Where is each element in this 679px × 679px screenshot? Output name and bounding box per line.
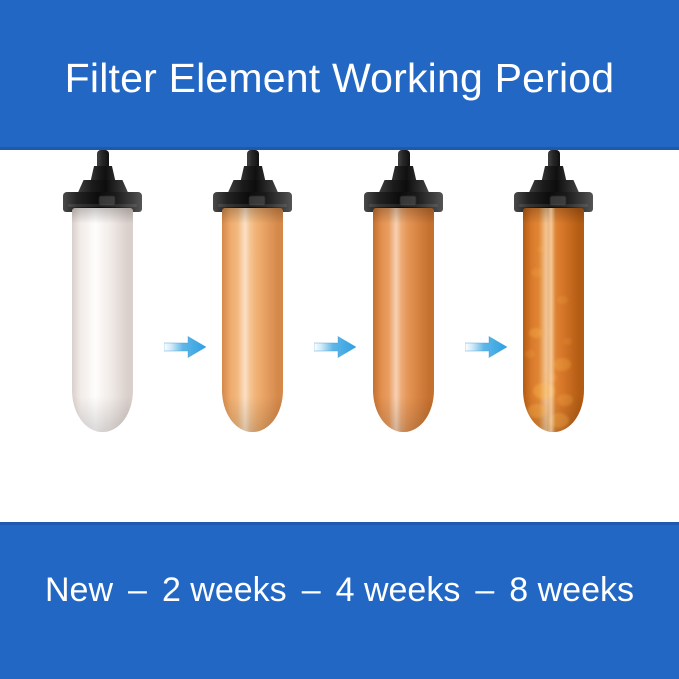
filter-body-1 xyxy=(72,208,133,432)
cap-embossed-mark xyxy=(99,196,115,205)
legend-separator: – xyxy=(115,573,160,607)
legend-stage-1: New xyxy=(43,573,115,607)
filter-cartridge-4 xyxy=(507,150,599,450)
filter-cap-2 xyxy=(206,150,298,212)
infographic-page: Filter Element Working Period New–2 week… xyxy=(0,0,679,679)
header-band: Filter Element Working Period xyxy=(0,0,679,150)
filter-progression-stage xyxy=(0,150,679,522)
cap-embossed-mark xyxy=(400,196,416,205)
legend-stage-4: 8 weeks xyxy=(507,573,636,607)
body-streak xyxy=(523,208,584,432)
arrow-right-icon-3 xyxy=(465,336,507,358)
filter-cartridge-2 xyxy=(206,150,298,450)
stage-legend: New–2 weeks–4 weeks–8 weeks xyxy=(43,573,636,607)
body-top-shadow xyxy=(373,208,434,432)
filter-cartridge-3 xyxy=(357,150,449,450)
filter-cartridge-1 xyxy=(56,150,148,450)
filter-cap-1 xyxy=(56,150,148,212)
legend-stage-3: 4 weeks xyxy=(334,573,463,607)
filter-body-2 xyxy=(222,208,283,432)
page-title: Filter Element Working Period xyxy=(65,58,615,99)
cap-embossed-mark xyxy=(550,196,566,205)
filter-body-4 xyxy=(523,208,584,432)
legend-separator: – xyxy=(289,573,334,607)
body-top-shadow xyxy=(222,208,283,432)
filter-cap-4 xyxy=(507,150,599,212)
filter-body-3 xyxy=(373,208,434,432)
cap-embossed-mark xyxy=(249,196,265,205)
body-top-shadow xyxy=(72,208,133,432)
footer-band: New–2 weeks–4 weeks–8 weeks xyxy=(0,522,679,679)
filter-cap-3 xyxy=(357,150,449,212)
legend-stage-2: 2 weeks xyxy=(160,573,289,607)
arrow-right-icon-1 xyxy=(164,336,206,358)
legend-separator: – xyxy=(462,573,507,607)
arrow-right-icon-2 xyxy=(314,336,356,358)
